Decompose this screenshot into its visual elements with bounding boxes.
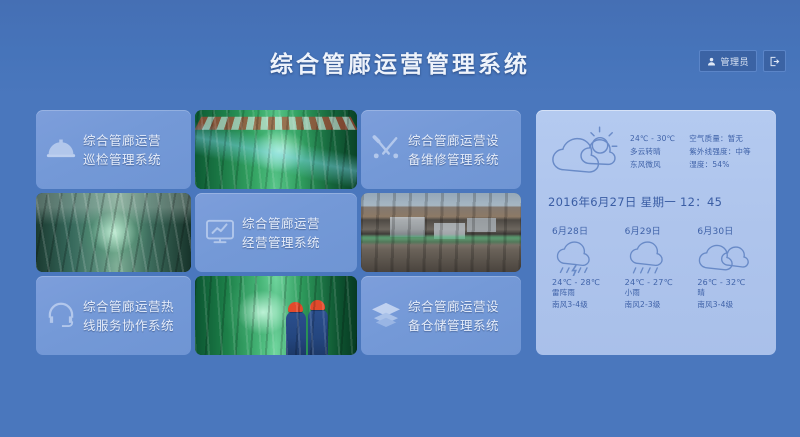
thunderstorm-icon — [552, 240, 619, 276]
tile-workers-photo[interactable] — [195, 276, 357, 355]
helmet-icon — [46, 136, 76, 164]
forecast-wind: 南风3-4级 — [697, 299, 764, 311]
workers-tunnel-image — [195, 276, 357, 355]
forecast-date: 6月28日 — [552, 224, 619, 237]
forecast-date: 6月30日 — [697, 224, 764, 237]
headset-icon — [46, 301, 76, 331]
worker-figure — [308, 309, 328, 355]
uv-index: 紫外线强度：中等 — [689, 145, 751, 158]
forecast-day: 6月30日 26℃ - 32℃ 晴 南风3-4级 — [693, 224, 764, 311]
page-header: 综合管廊运营管理系统 管理员 — [0, 0, 800, 95]
humidity: 湿度：54% — [689, 158, 751, 171]
tile-operations-label: 综合管廊运营经营管理系统 — [242, 214, 320, 252]
forecast-temp: 24℃ - 27℃ — [625, 278, 692, 287]
rain-icon — [625, 240, 692, 276]
weather-forecast: 6月28日 24℃ - 28℃ 雷阵雨 南风3-4级 6月29日 — [548, 224, 764, 311]
tools-icon — [371, 135, 401, 165]
corridor-image — [36, 193, 191, 272]
tile-operations[interactable]: 综合管廊运营经营管理系统 — [195, 193, 357, 272]
current-datetime: 2016年6月27日 星期一 12：45 — [548, 194, 764, 210]
forecast-temp: 24℃ - 28℃ — [552, 278, 619, 287]
weather-right-column: 空气质量：暂无 紫外线强度：中等 湿度：54% — [689, 132, 751, 171]
tile-road-photo[interactable] — [361, 193, 521, 272]
temp-range: 24℃ - 30℃ — [630, 132, 675, 145]
tile-hotline[interactable]: 综合管廊运营热线服务协作系统 — [36, 276, 191, 355]
dashboard-root: 综合管廊运营管理系统 管理员 — [0, 0, 800, 437]
weather-left-column: 24℃ - 30℃ 多云转晴 东风微风 — [630, 132, 675, 171]
tile-inspection-label: 综合管廊运营巡检管理系统 — [83, 131, 161, 169]
tile-maintenance[interactable]: 综合管廊运营设备维修管理系统 — [361, 110, 521, 189]
tunnel-pipes-image — [195, 110, 357, 189]
weather-panel: 24℃ - 30℃ 多云转晴 东风微风 空气质量：暂无 紫外线强度：中等 湿度：… — [536, 110, 776, 355]
tile-warehouse[interactable]: 综合管廊运营设备仓储管理系统 — [361, 276, 521, 355]
tile-corridor-photo[interactable] — [36, 193, 191, 272]
weather-current: 24℃ - 30℃ 多云转晴 东风微风 空气质量：暂无 紫外线强度：中等 湿度：… — [548, 120, 764, 182]
cloudy-icon — [697, 240, 764, 276]
weather-condition: 多云转晴 — [630, 145, 675, 158]
weather-wind: 东风微风 — [630, 158, 675, 171]
user-bar: 管理员 — [699, 50, 786, 72]
forecast-condition: 小雨 — [625, 287, 692, 299]
user-button[interactable]: 管理员 — [699, 50, 757, 72]
forecast-day: 6月28日 24℃ - 28℃ 雷阵雨 南风3-4级 — [548, 224, 619, 311]
layers-icon — [371, 301, 401, 331]
monitor-chart-icon — [205, 218, 235, 248]
tile-warehouse-label: 综合管廊运营设备仓储管理系统 — [408, 297, 499, 335]
logout-button[interactable] — [763, 50, 786, 72]
user-label: 管理员 — [720, 55, 749, 68]
logout-icon — [769, 56, 780, 67]
page-title: 综合管廊运营管理系统 — [0, 45, 800, 79]
forecast-wind: 南风2-3级 — [625, 299, 692, 311]
forecast-temp: 26℃ - 32℃ — [697, 278, 764, 287]
worker-figure — [286, 311, 306, 355]
module-tile-grid: 综合管廊运营巡检管理系统 综合管廊运营设备维修管理系统 — [36, 110, 521, 355]
forecast-day: 6月29日 24℃ - 27℃ 小雨 南风2-3级 — [621, 224, 692, 311]
tile-inspection[interactable]: 综合管廊运营巡检管理系统 — [36, 110, 191, 189]
tile-tunnel-pipes-photo[interactable] — [195, 110, 357, 189]
cloudy-sun-icon — [548, 121, 624, 181]
air-quality: 空气质量：暂无 — [689, 132, 751, 145]
user-icon — [707, 57, 716, 66]
forecast-wind: 南风3-4级 — [552, 299, 619, 311]
forecast-date: 6月29日 — [625, 224, 692, 237]
weather-current-details: 24℃ - 30℃ 多云转晴 东风微风 空气质量：暂无 紫外线强度：中等 湿度：… — [630, 132, 751, 171]
tile-maintenance-label: 综合管廊运营设备维修管理系统 — [408, 131, 499, 169]
forecast-condition: 雷阵雨 — [552, 287, 619, 299]
tile-hotline-label: 综合管廊运营热线服务协作系统 — [83, 297, 174, 335]
forecast-condition: 晴 — [697, 287, 764, 299]
road-construction-image — [361, 193, 521, 272]
